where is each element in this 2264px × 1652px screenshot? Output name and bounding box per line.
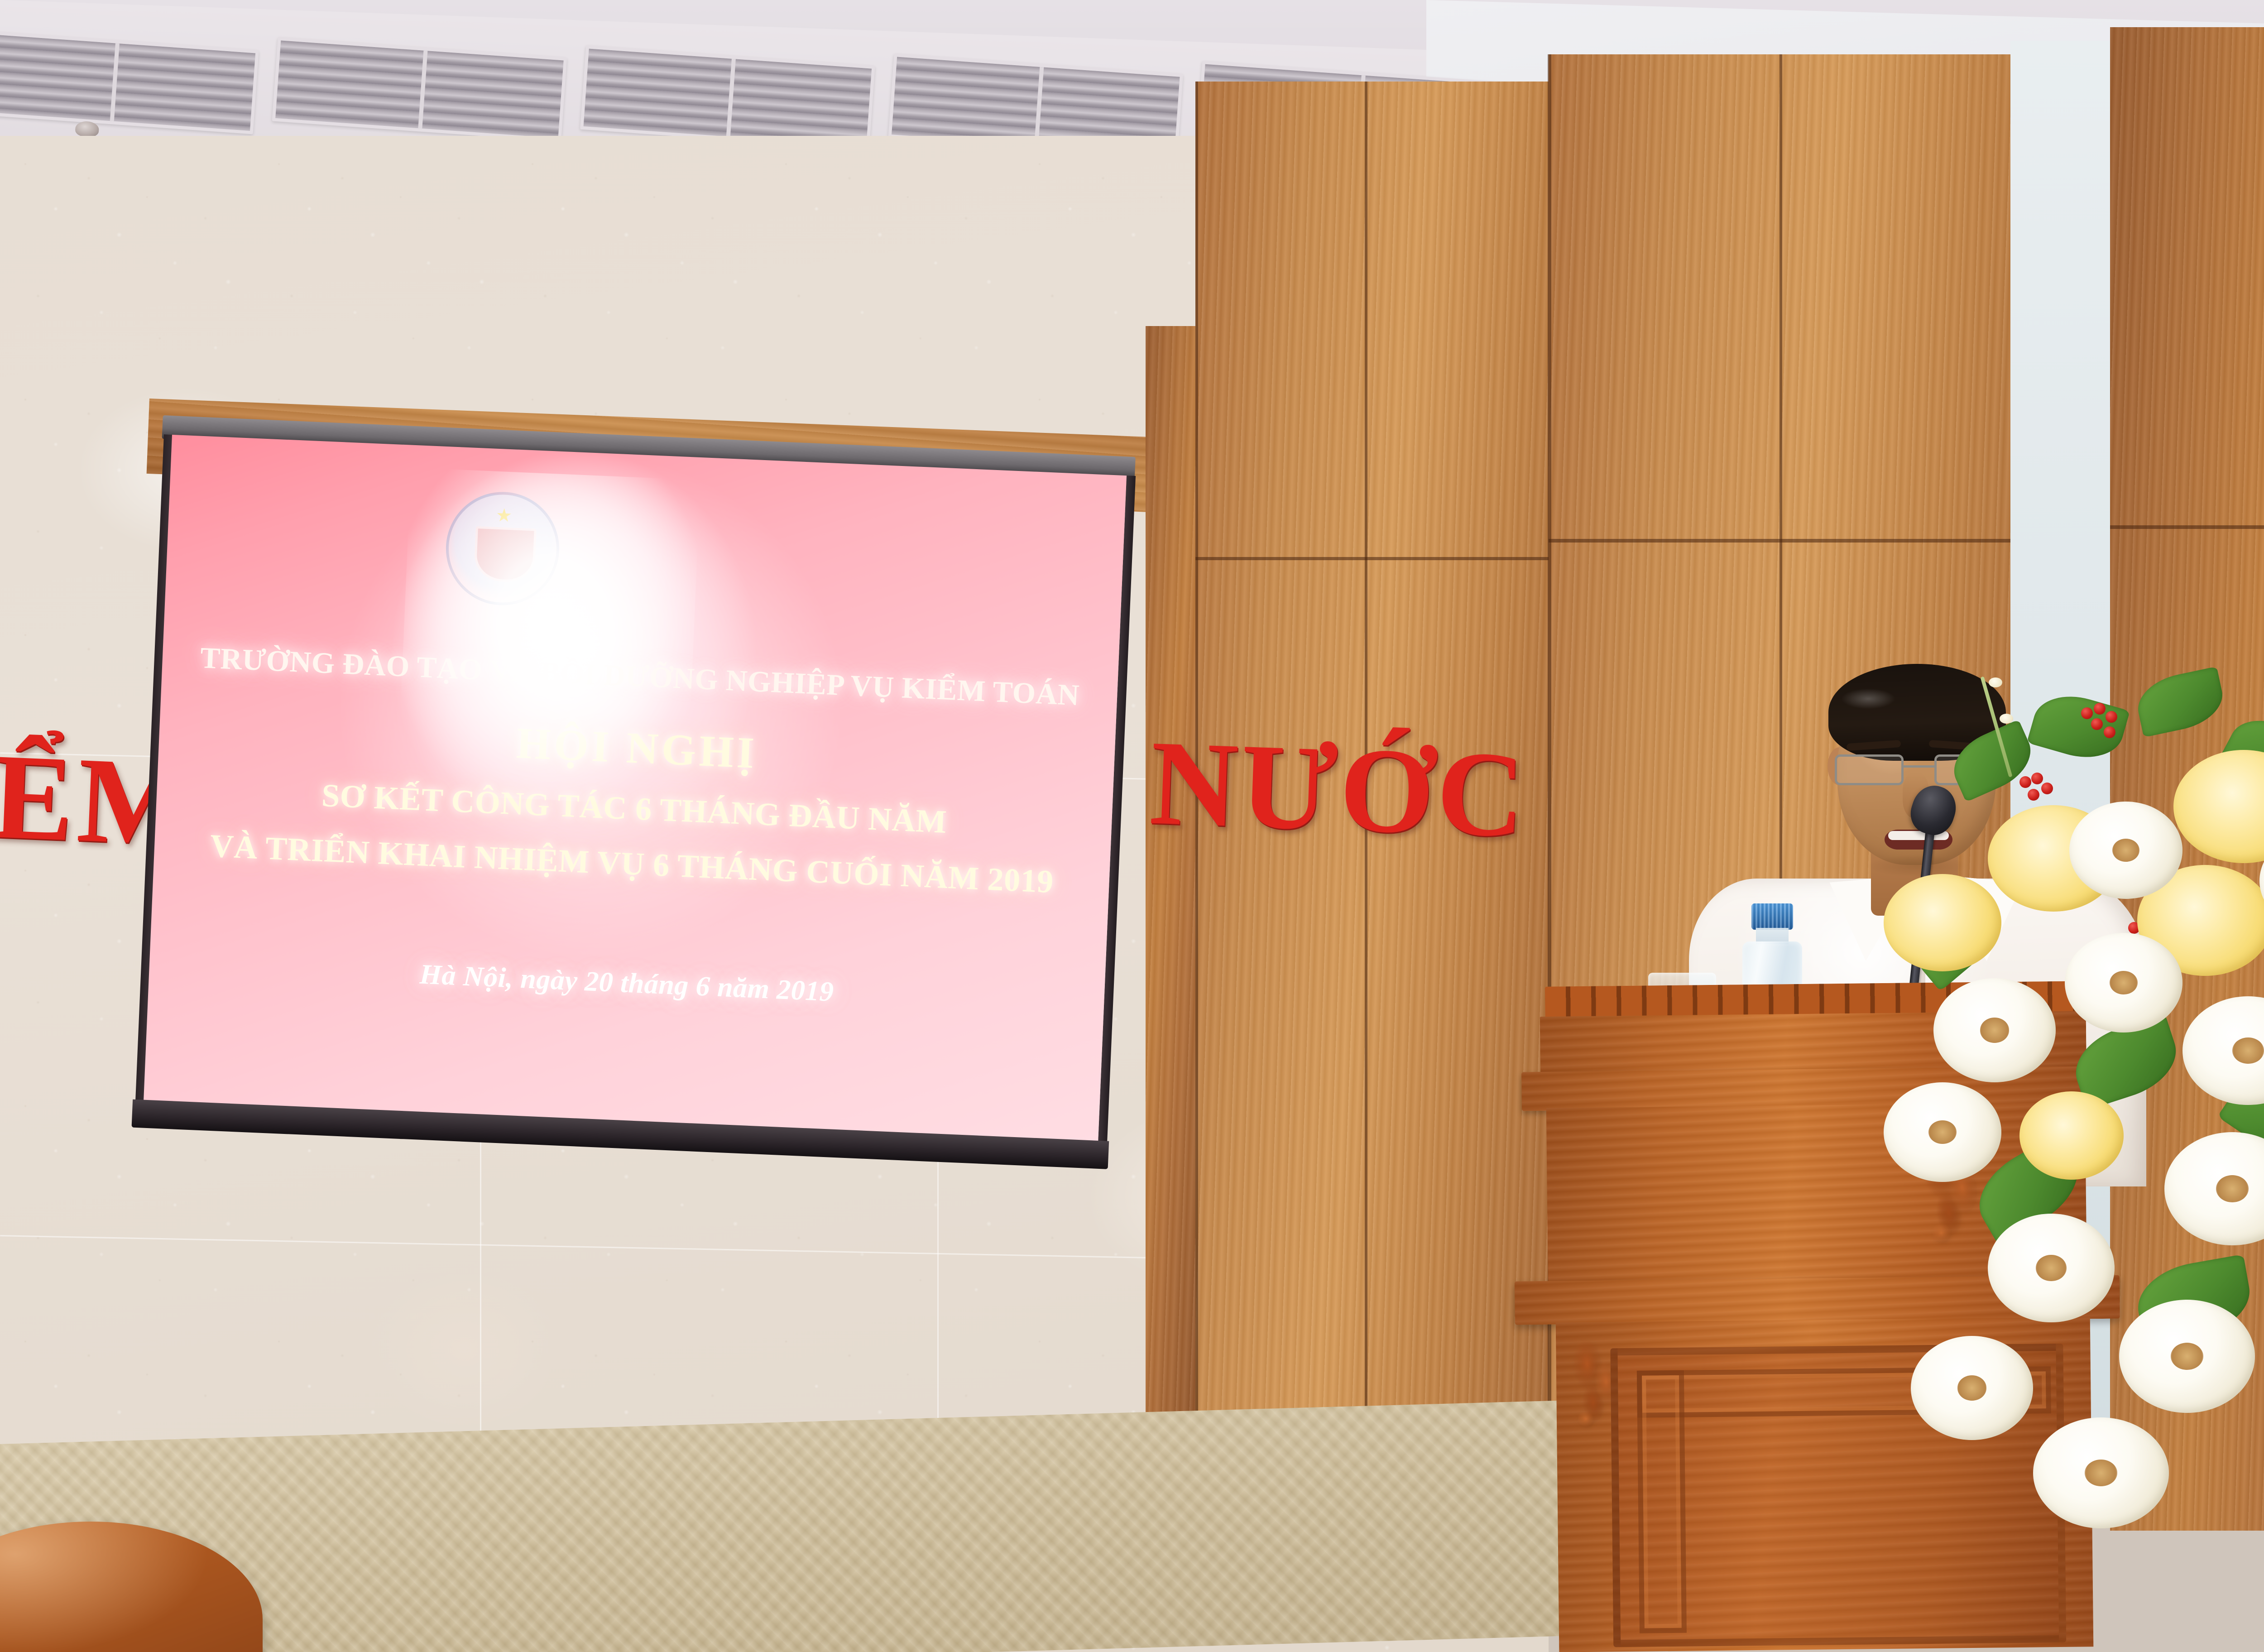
white-orchid — [1884, 1082, 2001, 1182]
slide-place-date: Hà Nội, ngày 20 tháng 6 năm 2019 — [149, 947, 1105, 1020]
slide-emblem-icon: ★ — [444, 490, 561, 607]
air-conditioning-grille — [0, 30, 259, 134]
wood-panel-seam — [2110, 525, 2264, 529]
yellow-rose — [2173, 750, 2264, 863]
white-orchid — [1988, 1214, 2115, 1322]
leaf — [2133, 667, 2228, 738]
slide-organization-line: TRƯỜNG ĐÀO TẠO VÀ BỒI DƯỠNG NGHIỆP VỤ KI… — [162, 639, 1118, 715]
white-orchid — [2033, 1417, 2169, 1528]
flower-bud — [2000, 714, 2013, 724]
wood-panel-seam — [1549, 539, 2015, 543]
podium-flower-arrangement — [1884, 620, 2264, 1526]
wall-sign-right: NƯỚC — [1148, 722, 1530, 856]
air-conditioning-grille — [272, 37, 567, 142]
conference-hall-photo: IỂM NƯỚC ★ TRƯỜNG ĐÀO TẠO VÀ BỒI DƯỠNG N… — [0, 0, 2264, 1652]
white-orchid — [1911, 1336, 2033, 1440]
berry-cluster — [2081, 703, 2125, 746]
white-rose — [2065, 933, 2182, 1032]
projected-slide: ★ TRƯỜNG ĐÀO TẠO VÀ BỒI DƯỠNG NGHIỆP VỤ … — [144, 435, 1127, 1143]
flower-bud — [1989, 677, 2002, 687]
greek-key-fret-icon — [1637, 1370, 1687, 1633]
projection-screen: ★ TRƯỜNG ĐÀO TẠO VÀ BỒI DƯỠNG NGHIỆP VỤ … — [142, 435, 1136, 1182]
white-orchid — [2164, 1132, 2264, 1245]
white-orchid — [2182, 996, 2264, 1105]
wood-panel-seam — [1195, 557, 1549, 560]
white-orchid — [1933, 978, 2056, 1082]
air-conditioning-grille — [580, 45, 875, 150]
wood-wall-panel — [1146, 326, 1201, 1485]
bottle-cap — [1751, 903, 1793, 930]
yellow-rose — [1884, 874, 2001, 971]
yellow-rose — [2019, 1091, 2124, 1180]
white-orchid — [2119, 1300, 2255, 1413]
white-rose — [2069, 802, 2182, 899]
